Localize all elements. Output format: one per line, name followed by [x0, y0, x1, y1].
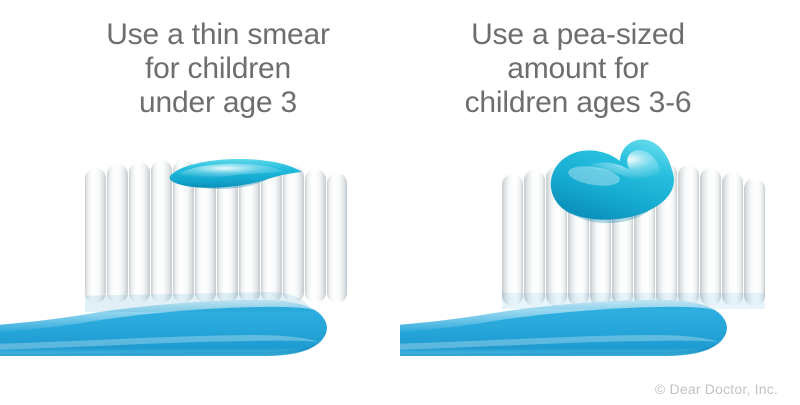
- tuft-base-shadow: [502, 293, 765, 309]
- toothpaste-pea-drop: [551, 140, 674, 224]
- caption-pea-sized: Use a pea-sized amount for children ages…: [408, 18, 748, 120]
- toothbrush-pea-sized: [400, 130, 800, 370]
- caption-thin-smear: Use a thin smear for children under age …: [48, 18, 388, 120]
- toothbrush-thin-smear: [0, 130, 400, 370]
- illustration-canvas: Use a thin smear for children under age …: [0, 0, 800, 405]
- copyright-notice: © Dear Doctor, Inc.: [655, 381, 778, 397]
